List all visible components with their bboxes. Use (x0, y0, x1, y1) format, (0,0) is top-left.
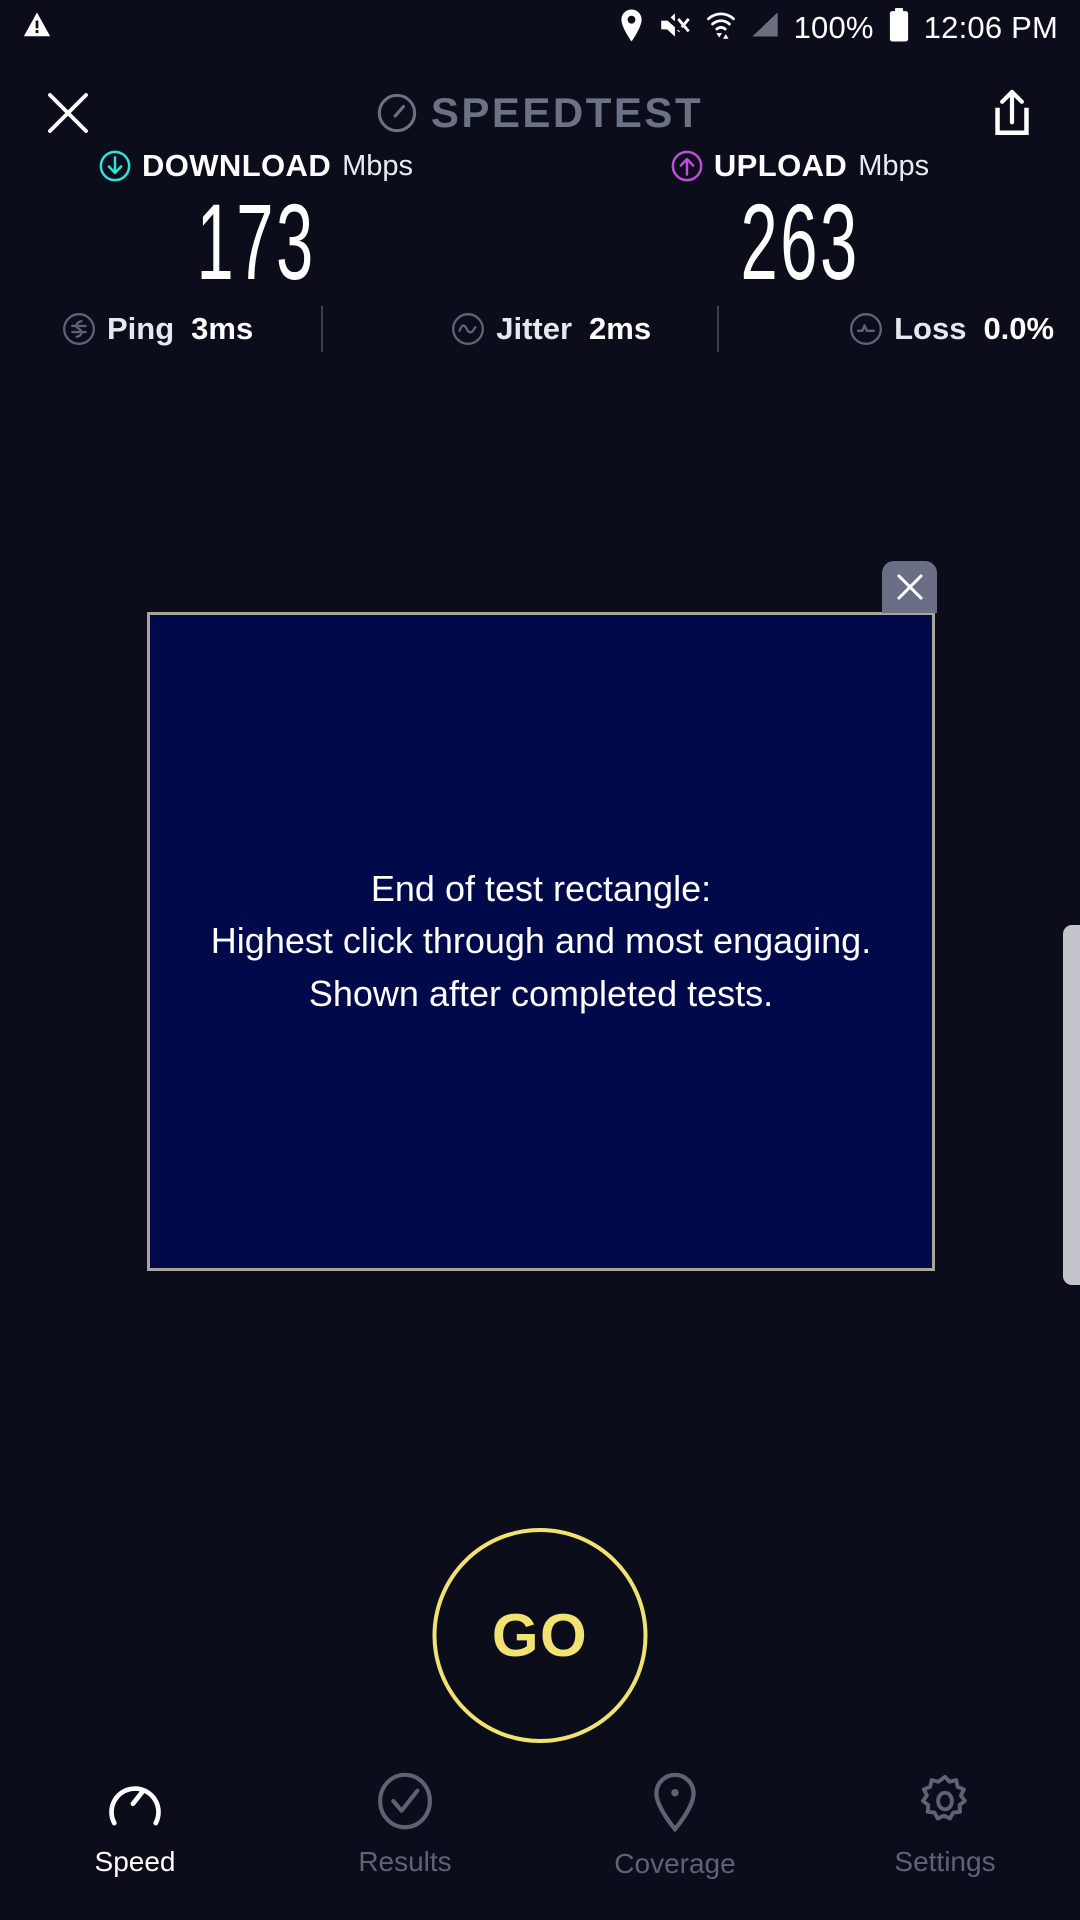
bottom-navigation-bar: Speed Results Coverage Settings (0, 1758, 1080, 1920)
wifi-icon (706, 9, 736, 46)
loss-label: Loss (894, 311, 966, 347)
ping-metric: Ping 3ms (62, 311, 253, 347)
loss-metric: Loss 0.0% (849, 311, 1054, 347)
nav-item-speed[interactable]: Speed (0, 1772, 270, 1878)
divider-1 (321, 306, 323, 352)
status-bar-left-icons (22, 10, 52, 45)
warning-triangle-icon (22, 10, 52, 45)
page-title: SPEEDTEST (431, 89, 703, 137)
speedometer-icon (104, 1772, 166, 1830)
nav-label-settings: Settings (894, 1846, 995, 1878)
jitter-icon (451, 312, 485, 346)
battery-percent-label: 100% (794, 10, 874, 46)
download-upload-row: DOWNLOAD Mbps 173 UPLOAD Mbps 263 (0, 148, 1080, 296)
share-icon (989, 88, 1035, 138)
test-results-panel: DOWNLOAD Mbps 173 UPLOAD Mbps 263 (0, 148, 1080, 296)
nav-label-coverage: Coverage (614, 1848, 735, 1880)
map-pin-icon (650, 1772, 700, 1832)
upload-metric: UPLOAD Mbps 263 (540, 148, 1080, 296)
download-metric: DOWNLOAD Mbps 173 (0, 148, 540, 296)
go-button[interactable]: GO (433, 1528, 648, 1743)
close-icon (44, 89, 92, 137)
ad-line-3: Shown after completed tests. (211, 968, 871, 1020)
ping-value: 3ms (191, 311, 253, 347)
status-bar-right-icons: 100% 12:06 PM (618, 8, 1058, 47)
go-button-label: GO (492, 1601, 588, 1670)
nav-item-settings[interactable]: Settings (810, 1772, 1080, 1878)
jitter-metric: Jitter 2ms (451, 311, 651, 347)
nav-item-results[interactable]: Results (270, 1772, 540, 1878)
jitter-value: 2ms (589, 311, 651, 347)
gear-icon (915, 1772, 975, 1830)
close-button[interactable] (38, 83, 98, 143)
ping-jitter-loss-row: Ping 3ms Jitter 2ms Loss 0.0% (0, 300, 1080, 358)
go-button-circle: GO (433, 1528, 648, 1743)
advertisement-banner[interactable]: End of test rectangle: Highest click thr… (147, 612, 935, 1271)
upload-name-label: UPLOAD (714, 148, 847, 184)
share-button[interactable] (982, 83, 1042, 143)
nav-label-results: Results (358, 1846, 451, 1878)
loss-value: 0.0% (983, 311, 1054, 347)
brand-logo: SPEEDTEST (377, 89, 703, 137)
download-label-row: DOWNLOAD Mbps (99, 148, 413, 184)
download-name-label: DOWNLOAD (142, 148, 331, 184)
cellular-signal-icon (750, 11, 780, 44)
ad-line-1: End of test rectangle: (211, 863, 871, 915)
nav-label-speed: Speed (95, 1846, 176, 1878)
download-value: 173 (196, 188, 315, 296)
ad-text-block: End of test rectangle: Highest click thr… (197, 863, 885, 1020)
location-pin-icon (618, 9, 645, 47)
upload-label-row: UPLOAD Mbps (671, 148, 929, 184)
volume-mute-icon (659, 10, 692, 45)
upload-value: 263 (740, 188, 859, 296)
nav-item-coverage[interactable]: Coverage (540, 1772, 810, 1880)
ping-icon (62, 312, 96, 346)
android-status-bar: 100% 12:06 PM (0, 0, 1080, 55)
arrow-down-circle-icon (99, 150, 131, 182)
clock-label: 12:06 PM (924, 10, 1058, 46)
arrow-up-circle-icon (671, 150, 703, 182)
download-unit-label: Mbps (342, 150, 413, 183)
vertical-scrollbar[interactable] (1063, 925, 1080, 1285)
jitter-label: Jitter (496, 311, 572, 347)
speedtest-app-screen: 100% 12:06 PM SPEEDTEST (0, 0, 1080, 1920)
battery-icon (888, 8, 910, 47)
upload-unit-label: Mbps (858, 150, 929, 183)
close-icon (894, 571, 926, 603)
ad-close-button[interactable] (882, 561, 937, 613)
check-circle-icon (375, 1772, 435, 1830)
ad-line-2: Highest click through and most engaging. (211, 915, 871, 967)
loss-icon (849, 312, 883, 346)
ping-label: Ping (107, 311, 174, 347)
speedometer-logo-icon (377, 93, 417, 133)
divider-2 (717, 306, 719, 352)
